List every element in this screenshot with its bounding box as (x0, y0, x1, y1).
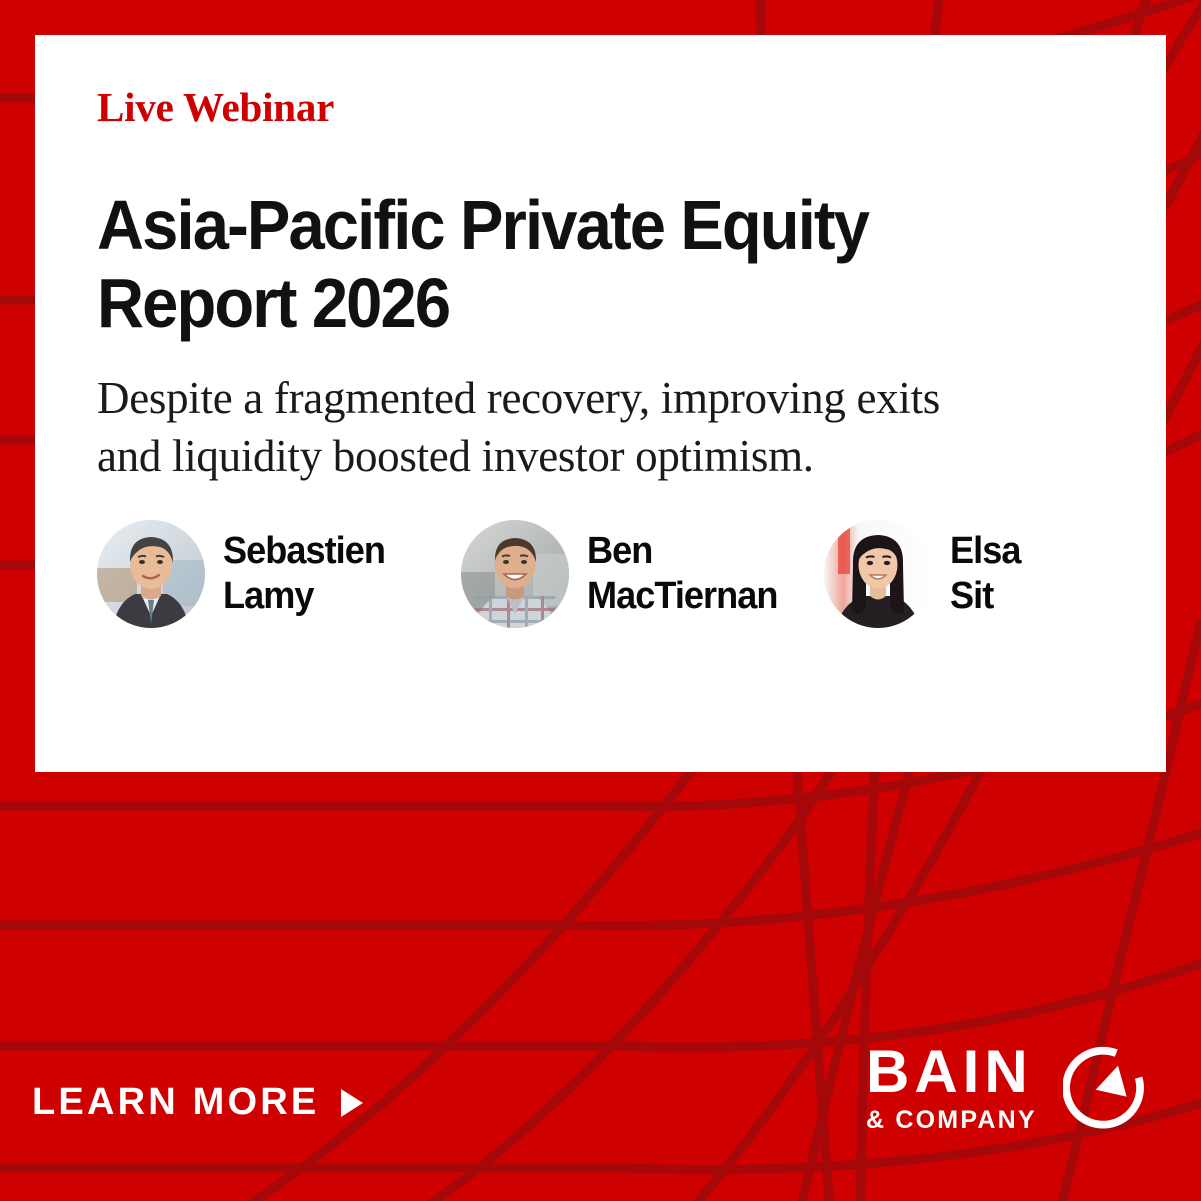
bain-logo-wordmark: BAIN & COMPANY (866, 1043, 1037, 1133)
speaker-item: Ben MacTiernan (461, 520, 825, 628)
learn-more-button[interactable]: LEARN MORE (32, 1083, 363, 1121)
bain-logo-secondary-text: & COMPANY (866, 1108, 1037, 1133)
bain-logo: BAIN & COMPANY (866, 1043, 1149, 1133)
eyebrow-live-webinar: Live Webinar (97, 87, 1104, 128)
speakers-list: Sebastien Lamy (97, 520, 1104, 628)
speaker-name: Ben MacTiernan (587, 529, 777, 619)
learn-more-label: LEARN MORE (32, 1083, 319, 1121)
avatar-photo-elsa-sit (824, 520, 932, 628)
speaker-name: Elsa Sit (950, 529, 1020, 619)
speaker-item: Elsa Sit (824, 520, 1104, 628)
subtitle-text: Despite a fragmented recovery, improving… (97, 369, 977, 486)
play-triangle-icon (341, 1089, 363, 1117)
avatar-photo-ben-mactiernan (461, 520, 569, 628)
page-title: Asia-Pacific Private Equity Report 2026 (97, 186, 1034, 343)
content-card: Live Webinar Asia-Pacific Private Equity… (35, 35, 1166, 772)
avatar-photo-sebastien-lamy (97, 520, 205, 628)
speaker-name: Sebastien Lamy (223, 529, 385, 619)
bain-logo-primary-text: BAIN (866, 1043, 1037, 1100)
bain-circle-arrow-logo-icon (1063, 1045, 1149, 1131)
promo-canvas: Live Webinar Asia-Pacific Private Equity… (0, 0, 1201, 1201)
speaker-item: Sebastien Lamy (97, 520, 461, 628)
